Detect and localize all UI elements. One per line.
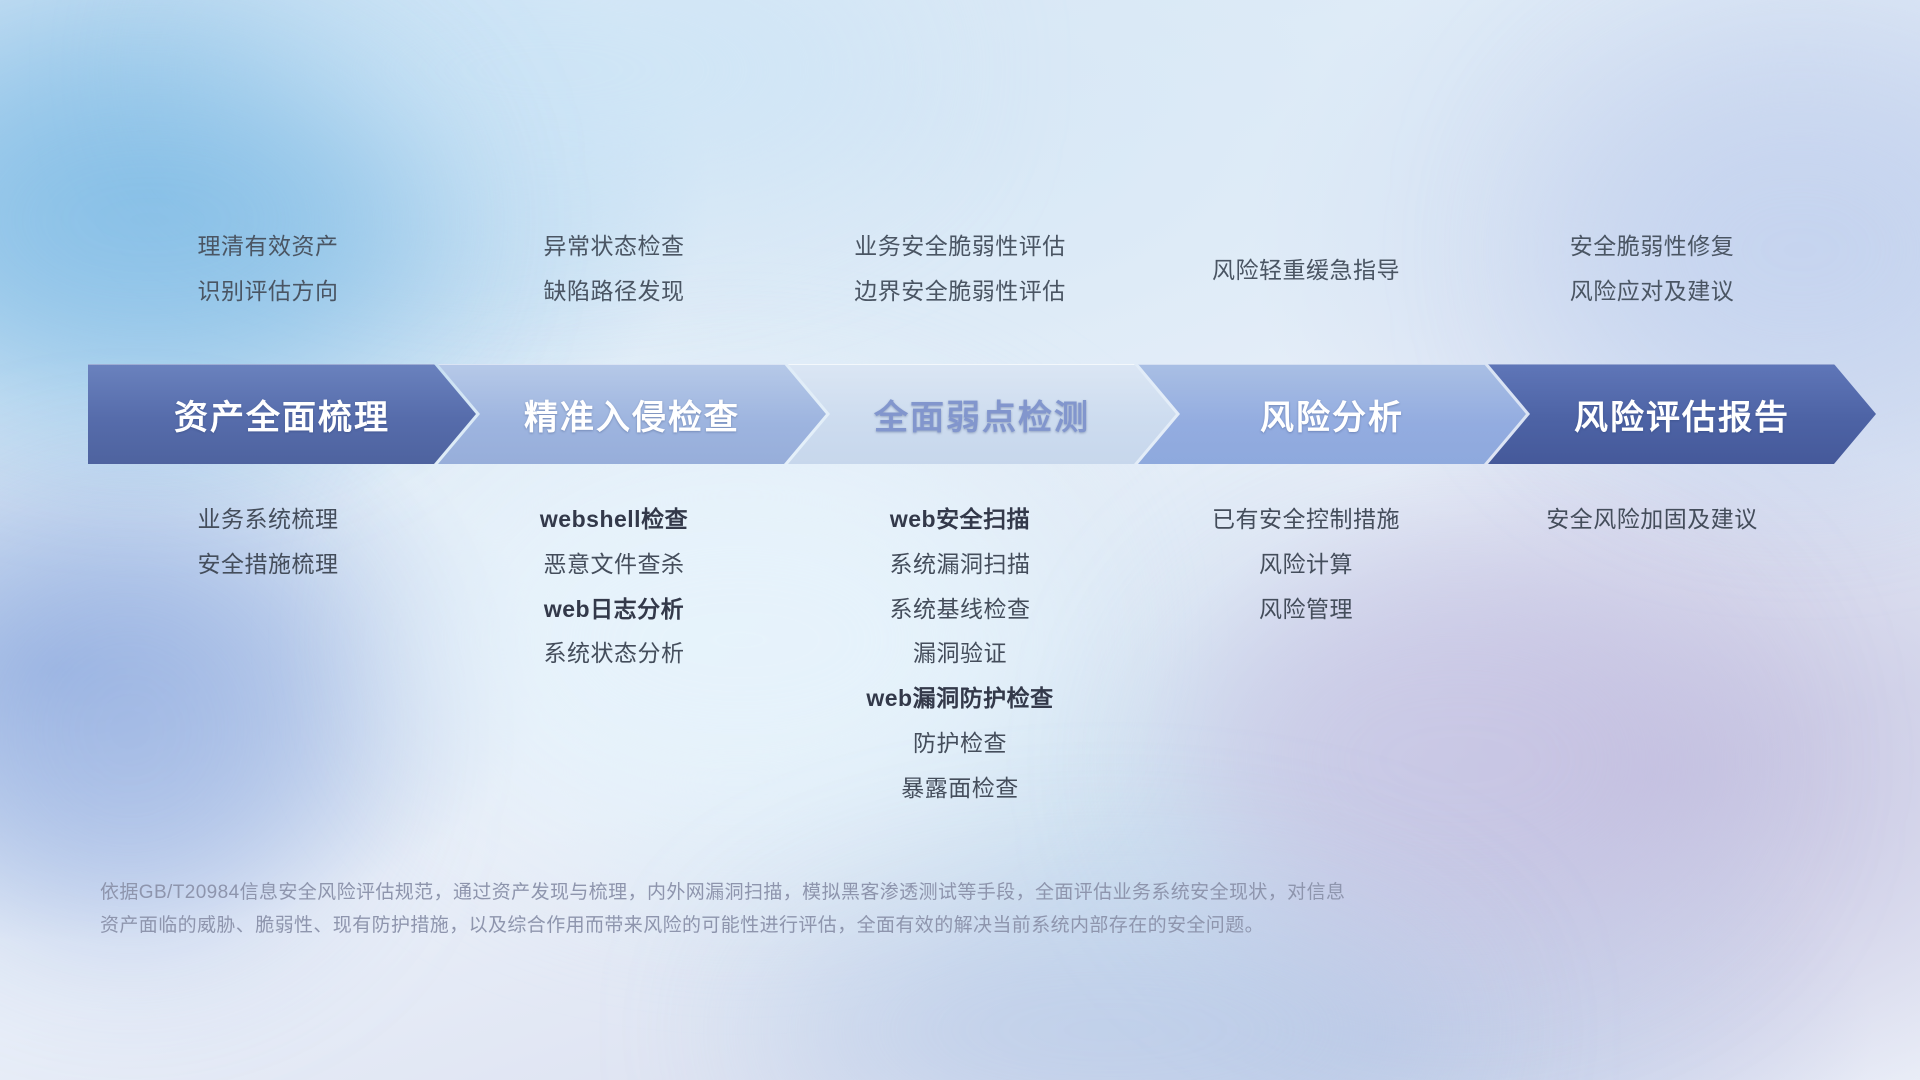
footer-line-1: 依据GB/T20984信息安全风险评估规范，通过资产发现与梳理，内外网漏洞扫描，… [100,876,1600,909]
stage-label: 风险评估报告 [1574,390,1790,439]
bottom-label: 系统漏洞扫描 [890,550,1031,579]
bottom-label: web漏洞防护检查 [866,684,1053,713]
stage-arrow-5[interactable]: 风险评估报告 [1488,364,1876,464]
column-4-top-labels: 风险轻重缓急指导 [1133,256,1479,285]
column-5-bottom-labels: 安全风险加固及建议 [1479,505,1825,534]
bottom-label: web安全扫描 [890,505,1030,534]
bottom-label: 系统状态分析 [544,639,685,668]
bottom-label: 风险计算 [1259,550,1353,579]
bottom-label: webshell检查 [540,505,688,534]
stage-label: 全面弱点检测 [874,390,1090,439]
bottom-label: 暴露面检查 [901,774,1019,803]
column-2-bottom-labels: webshell检查 恶意文件查杀 web日志分析 系统状态分析 [441,505,787,668]
stage-arrow-4[interactable]: 风险分析 [1138,364,1526,464]
top-label: 风险应对及建议 [1570,277,1735,306]
stage-label: 风险分析 [1260,390,1404,439]
stage-arrow-2[interactable]: 精准入侵检查 [438,364,826,464]
column-1-top-labels: 理清有效资产 识别评估方向 [95,232,441,306]
column-3-bottom-labels: web安全扫描 系统漏洞扫描 系统基线检查 漏洞验证 web漏洞防护检查 防护检… [787,505,1133,802]
stage-arrow-3[interactable]: 全面弱点检测 [788,364,1176,464]
top-label: 安全脆弱性修复 [1570,232,1735,261]
bottom-label: 漏洞验证 [913,639,1007,668]
footer-line-2: 资产面临的威胁、脆弱性、现有防护措施，以及综合作用而带来风险的可能性进行评估，全… [100,909,1600,942]
bottom-label: web日志分析 [544,595,684,624]
process-arrow-banner: 资产全面梳理 精准入侵检查 全面弱点检测 风险分析 风险评估报告 [88,364,1836,464]
column-4-bottom-labels: 已有安全控制措施 风险计算 风险管理 [1133,505,1479,623]
top-label: 业务安全脆弱性评估 [854,232,1066,261]
footer-description: 依据GB/T20984信息安全风险评估规范，通过资产发现与梳理，内外网漏洞扫描，… [100,876,1600,943]
column-5-top-labels: 安全脆弱性修复 风险应对及建议 [1479,232,1825,306]
bottom-label: 防护检查 [913,729,1007,758]
stage-label: 资产全面梳理 [174,390,390,439]
bottom-label: 恶意文件查杀 [544,550,685,579]
stage-label: 精准入侵检查 [524,390,740,439]
slide-canvas: 理清有效资产 识别评估方向 业务系统梳理 安全措施梳理 异常状态检查 缺陷路径发… [0,0,1920,1080]
top-label: 边界安全脆弱性评估 [854,277,1066,306]
top-label: 异常状态检查 [544,232,685,261]
bottom-label: 系统基线检查 [890,595,1031,624]
top-label: 缺陷路径发现 [544,277,685,306]
top-label: 理清有效资产 [198,232,339,261]
bottom-label: 业务系统梳理 [198,505,339,534]
bottom-label: 安全风险加固及建议 [1546,505,1758,534]
column-1-bottom-labels: 业务系统梳理 安全措施梳理 [95,505,441,579]
bottom-label: 已有安全控制措施 [1212,505,1400,534]
column-2-top-labels: 异常状态检查 缺陷路径发现 [441,232,787,306]
top-label: 识别评估方向 [198,277,339,306]
bottom-label: 风险管理 [1259,595,1353,624]
stage-arrow-1[interactable]: 资产全面梳理 [88,364,476,464]
top-label: 风险轻重缓急指导 [1212,256,1400,285]
bottom-label: 安全措施梳理 [198,550,339,579]
column-3-top-labels: 业务安全脆弱性评估 边界安全脆弱性评估 [787,232,1133,306]
